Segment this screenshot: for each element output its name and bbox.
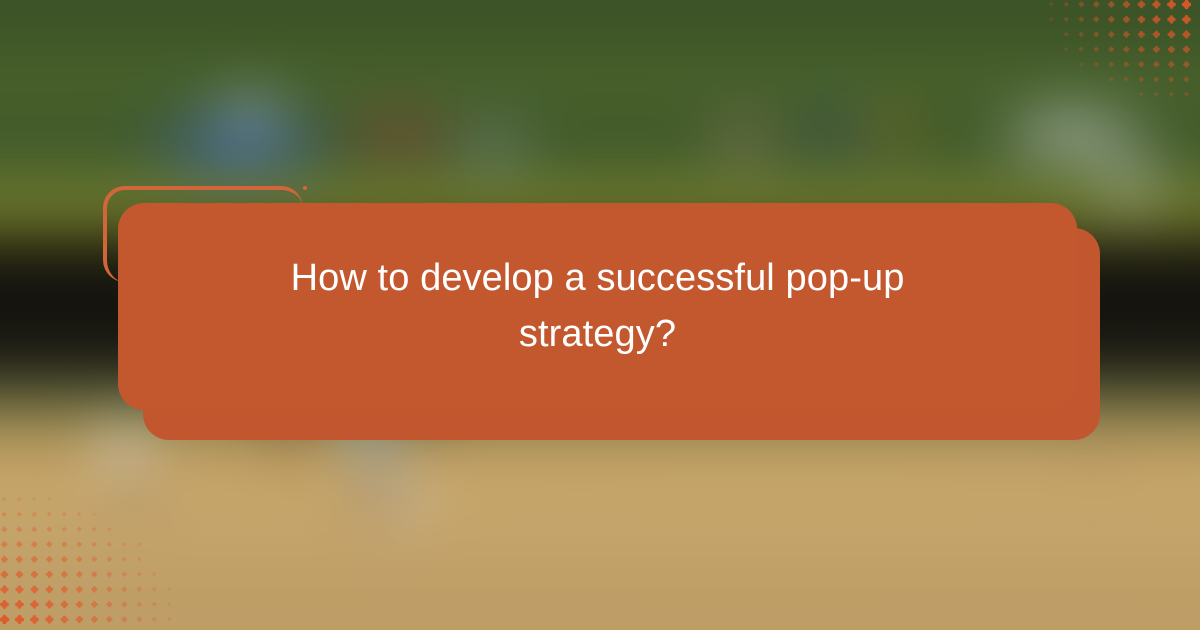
page-title: How to develop a successful pop-up strat…: [278, 251, 918, 361]
headline-card: How to develop a successful pop-up strat…: [118, 203, 1077, 410]
social-card-canvas: How to develop a successful pop-up strat…: [0, 0, 1200, 630]
